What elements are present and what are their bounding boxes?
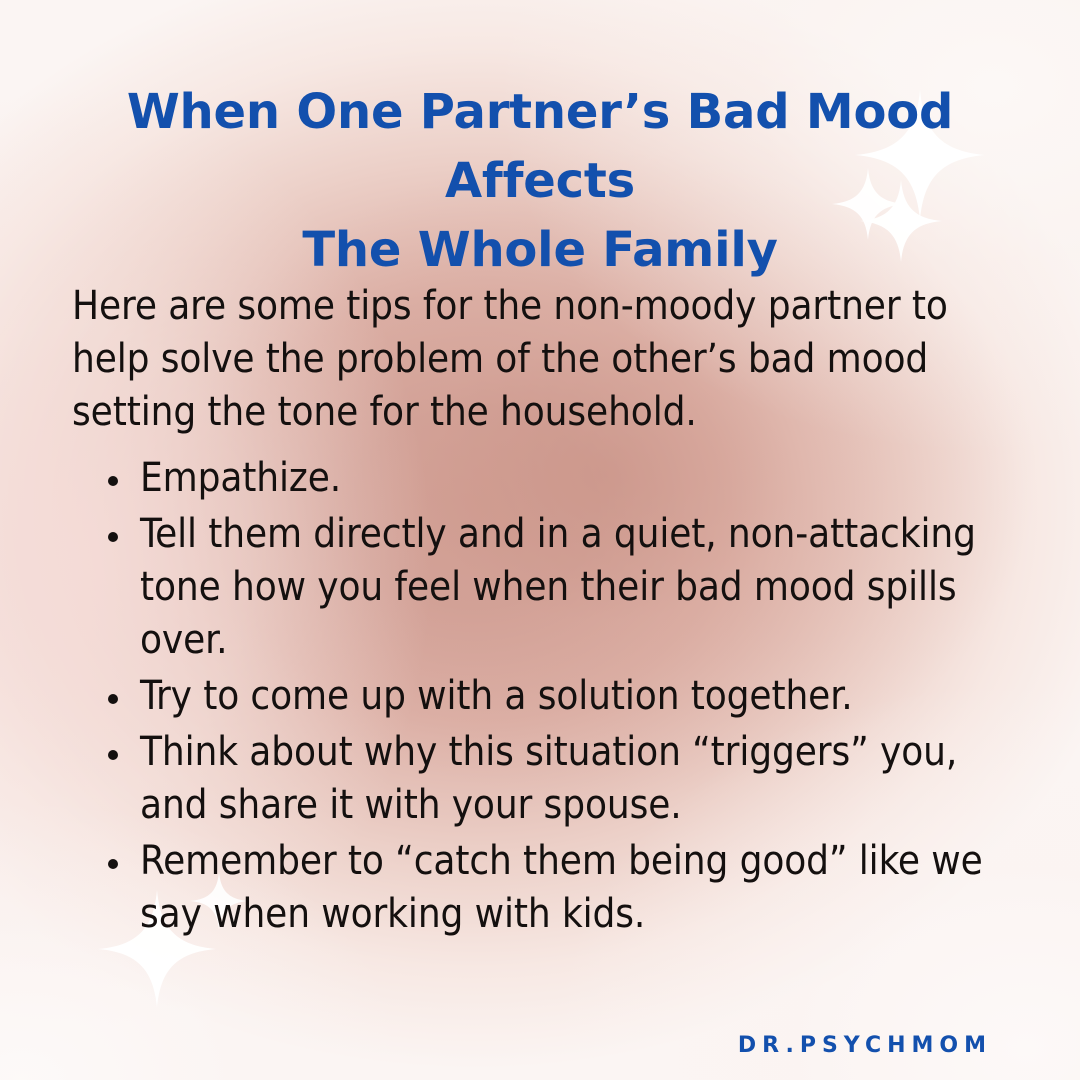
page-title: When One Partner’s Bad Mood Affects The … — [0, 78, 1080, 285]
poster-canvas: When One Partner’s Bad Mood Affects The … — [0, 0, 1080, 1080]
poster-content: When One Partner’s Bad Mood Affects The … — [0, 0, 1080, 1080]
list-item-text: Empathize. — [140, 452, 1030, 505]
list-item-text: Remember to “catch them being good” like… — [140, 835, 1030, 941]
list-item: Remember to “catch them being good” like… — [100, 835, 1030, 941]
list-item-text: Try to come up with a solution together. — [140, 670, 1030, 723]
list-item: Tell them directly and in a quiet, non-a… — [100, 508, 1030, 667]
list-item: Think about why this situation “triggers… — [100, 726, 1030, 832]
list-item: Try to come up with a solution together. — [100, 670, 1030, 723]
intro-paragraph: Here are some tips for the non-moody par… — [72, 280, 1022, 439]
list-item: Empathize. — [100, 452, 1030, 505]
list-item-text: Think about why this situation “triggers… — [140, 726, 1030, 832]
brand-watermark: DR.PSYCHMOM — [738, 1033, 992, 1058]
tips-list: Empathize. Tell them directly and in a q… — [100, 452, 1030, 944]
list-item-text: Tell them directly and in a quiet, non-a… — [140, 508, 1030, 667]
